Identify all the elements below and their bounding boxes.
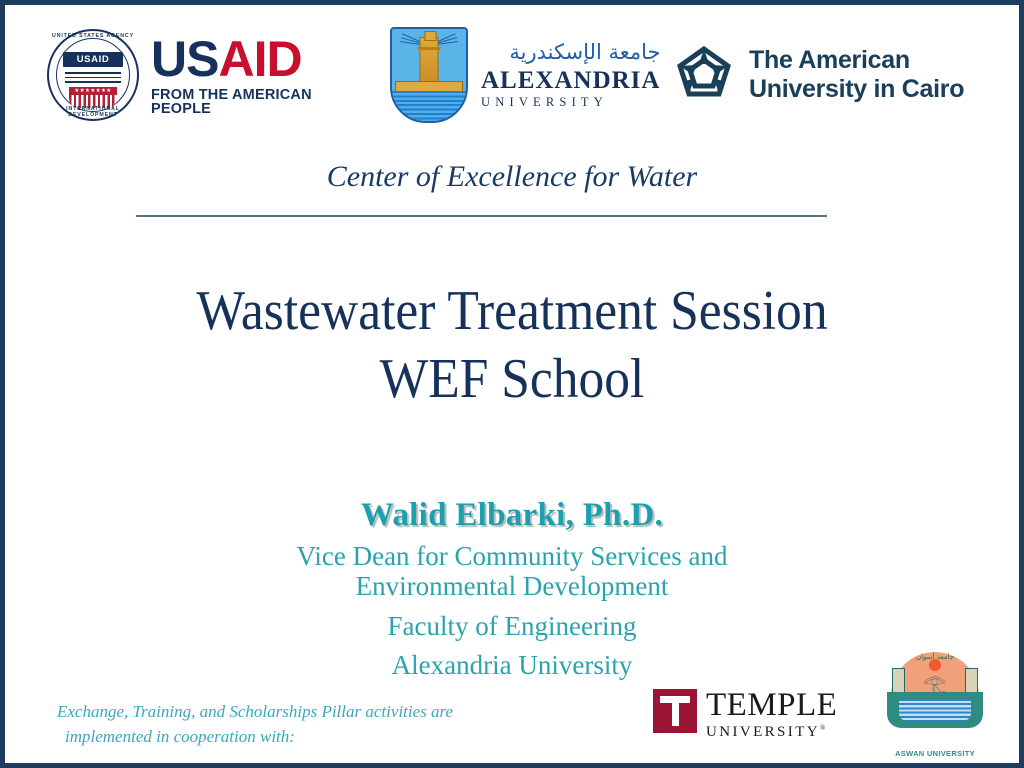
presenter-affiliation: Faculty of Engineering Alexandria Univer… (5, 607, 1019, 684)
main-title-line1: Wastewater Treatment Session (46, 277, 979, 345)
auc-wordmark: The American University in Cairo (749, 46, 964, 105)
presenter-university: Alexandria University (5, 646, 1019, 684)
alexandria-arabic-name: جامعة الإسكندرية (481, 42, 660, 63)
presenter-name: Walid Elbarki, Ph.D. (5, 497, 1019, 534)
registered-mark: ® (820, 724, 828, 732)
footer-note-line2: implemented in cooperation with: (57, 725, 597, 750)
temple-university-word: UNIVERSITY (706, 724, 820, 740)
slide-main-title: Wastewater Treatment Session WEF School (46, 277, 979, 414)
usaid-seal-arc-bottom: INTERNATIONAL DEVELOPMENT (47, 106, 139, 118)
usaid-tagline: FROM THE AMERICAN PEOPLE (151, 88, 357, 117)
logo-bar: UNITED STATES AGENCY USAID ★★★★★★★ INTER… (5, 23, 1019, 131)
aswan-university-logo: جامعة أسوان 𓂀 ASWAN UNIVERSITY (883, 650, 987, 758)
aswan-water-icon (899, 699, 971, 721)
presentation-slide: UNITED STATES AGENCY USAID ★★★★★★★ INTER… (0, 0, 1024, 768)
usaid-shield-stars: ★★★★★★★ (69, 87, 117, 95)
alexandria-name-line2: UNIVERSITY (481, 96, 660, 109)
handshake-icon (65, 70, 121, 85)
alexandria-name-line1: ALEXANDRIA (481, 68, 660, 93)
usaid-seal-icon: UNITED STATES AGENCY USAID ★★★★★★★ INTER… (47, 29, 139, 121)
temple-name-line2: UNIVERSITY® (706, 725, 837, 740)
presenter-block: Walid Elbarki, Ph.D. Vice Dean for Commu… (5, 497, 1019, 684)
auc-name-line2: University in Cairo (749, 75, 964, 105)
pharos-lighthouse-shield-icon (390, 27, 468, 123)
temple-university-logo: TEMPLE UNIVERSITY® (653, 689, 837, 740)
american-university-in-cairo-logo: The American University in Cairo (673, 23, 989, 127)
presenter-role: Vice Dean for Community Services and Env… (5, 541, 1019, 601)
alexandria-wordmark: جامعة الإسكندرية ALEXANDRIA UNIVERSITY (481, 42, 660, 109)
usaid-logo: UNITED STATES AGENCY USAID ★★★★★★★ INTER… (47, 23, 357, 127)
footer-note-line1: Exchange, Training, and Scholarships Pil… (57, 702, 453, 721)
usaid-wordmark-us: US (151, 31, 218, 87)
header-divider (136, 215, 827, 217)
water-waves-icon (392, 91, 466, 121)
temple-t-icon (653, 689, 697, 733)
footer-note: Exchange, Training, and Scholarships Pil… (57, 700, 597, 749)
sun-icon (929, 659, 941, 671)
presenter-role-line2: Environmental Development (5, 571, 1019, 601)
alexandria-university-logo: جامعة الإسكندرية ALEXANDRIA UNIVERSITY (390, 23, 645, 127)
aswan-label: ASWAN UNIVERSITY (883, 749, 987, 758)
aswan-seal-icon: جامعة أسوان 𓂀 (883, 650, 987, 738)
center-of-excellence-title: Center of Excellence for Water (5, 160, 1019, 194)
auc-name-line1: The American (749, 46, 964, 76)
usaid-wordmark-aid: AID (218, 31, 301, 87)
presenter-role-line1: Vice Dean for Community Services and (5, 541, 1019, 571)
temple-wordmark: TEMPLE UNIVERSITY® (706, 689, 837, 740)
main-title-line2: WEF School (46, 345, 979, 413)
presenter-faculty: Faculty of Engineering (5, 607, 1019, 645)
usaid-seal-arc-top: UNITED STATES AGENCY (47, 33, 139, 39)
temple-name-line1: TEMPLE (706, 689, 837, 722)
usaid-seal-banner: USAID (63, 52, 123, 67)
usaid-wordmark: USAID FROM THE AMERICAN PEOPLE (151, 34, 357, 117)
auc-pinwheel-icon (673, 44, 735, 106)
